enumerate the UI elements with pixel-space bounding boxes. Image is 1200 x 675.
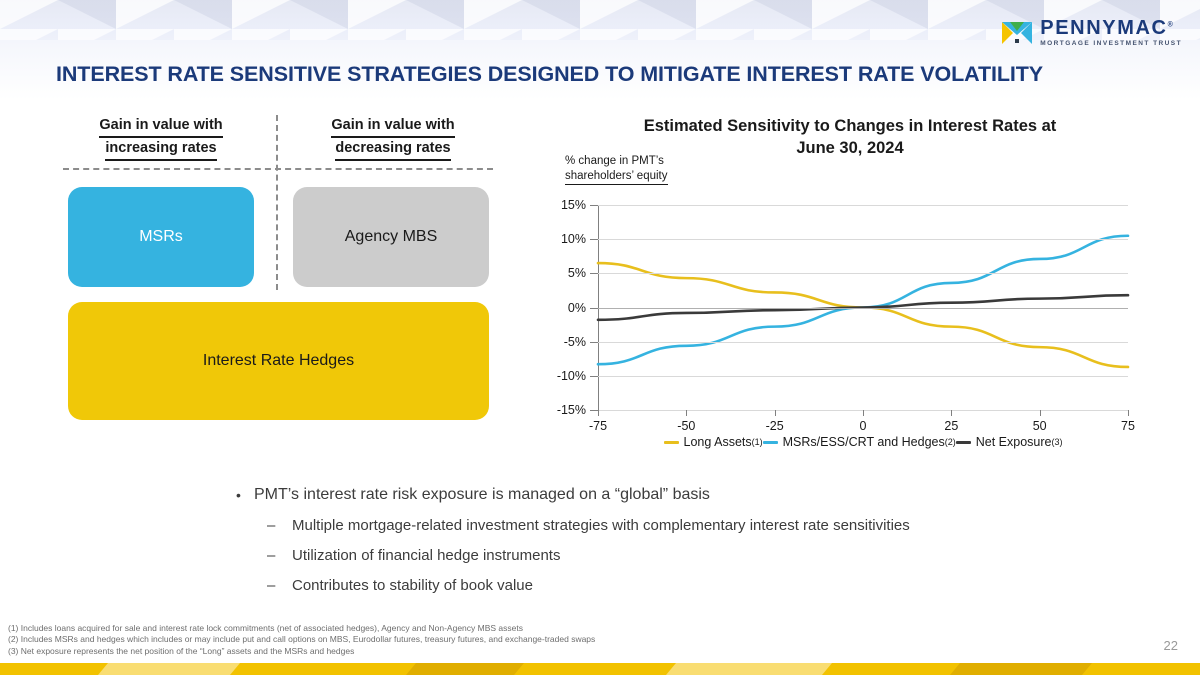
matrix-heading-increasing: Gain in value with increasing rates [63, 115, 259, 161]
pattern-triangle [522, 0, 580, 29]
footnote-2: (2) Includes MSRs and hedges which inclu… [8, 634, 868, 646]
chart-x-tick-label: 50 [1033, 419, 1047, 433]
chart-x-tick-label: 25 [944, 419, 958, 433]
bullet-primary-text: PMT’s interest rate risk exposure is man… [254, 484, 710, 506]
pattern-triangle [290, 0, 348, 29]
bullet-sub-text: Contributes to stability of book value [292, 575, 533, 597]
pattern-triangle [638, 0, 696, 29]
bullet-sub-text: Utilization of financial hedge instrumen… [292, 545, 560, 567]
legend-swatch [763, 441, 778, 444]
legend-swatch [664, 441, 679, 444]
pattern-triangle [58, 0, 116, 29]
chart-gridline [598, 273, 1128, 274]
bullet-sub: – Contributes to stability of book value [267, 575, 1136, 597]
bullet-marker: • [236, 484, 254, 506]
chart-y-tick [590, 376, 598, 377]
legend-label: MSRs/ESS/CRT and Hedges [783, 435, 945, 449]
accent-strip-segment [0, 663, 98, 675]
pattern-triangle [928, 0, 986, 29]
matrix-heading-increasing-line1: Gain in value with [99, 115, 222, 138]
pattern-triangle [232, 0, 290, 29]
chart-x-tick-label: -75 [589, 419, 607, 433]
pattern-triangle [464, 0, 522, 29]
legend-label: Long Assets [684, 435, 752, 449]
accent-strip-segment [406, 663, 524, 675]
bullet-sub: – Utilization of financial hedge instrum… [267, 545, 1136, 567]
chart-gridline [598, 308, 1128, 309]
chart-y-tick-label: -10% [557, 369, 586, 383]
box-interest-rate-hedges: Interest Rate Hedges [68, 302, 489, 420]
legend-item: Long Assets(1) [664, 435, 763, 449]
chart-y-tick-label: 0% [568, 301, 586, 315]
legend-item: Net Exposure(3) [956, 435, 1063, 449]
legend-footnote-ref: (3) [1051, 437, 1062, 447]
bullet-dash-marker: – [267, 575, 292, 597]
box-agency-mbs: Agency MBS [293, 187, 489, 287]
pattern-triangle [580, 0, 638, 29]
legend-footnote-ref: (2) [945, 437, 956, 447]
sensitivity-chart: Estimated Sensitivity to Changes in Inte… [520, 110, 1180, 460]
pattern-triangle [348, 0, 406, 29]
chart-x-tick [1128, 410, 1129, 416]
chart-series-line [598, 236, 1128, 364]
chart-series-line [598, 263, 1128, 367]
pattern-triangle [870, 0, 928, 29]
chart-axis-note-line2: shareholders’ equity [565, 169, 668, 185]
chart-y-tick [590, 410, 598, 411]
box-msrs: MSRs [68, 187, 254, 287]
footnotes: (1) Includes loans acquired for sale and… [8, 623, 868, 658]
matrix-heading-increasing-line2: increasing rates [105, 138, 216, 161]
chart-y-tick-label: 5% [568, 266, 586, 280]
registered-mark: ® [1168, 21, 1173, 28]
chart-x-tick-label: -25 [766, 419, 784, 433]
chart-title-line2: June 30, 2024 [796, 139, 903, 157]
chart-y-tick [590, 239, 598, 240]
footnote-3: (3) Net exposure represents the net posi… [8, 646, 868, 658]
strategy-matrix: Gain in value with increasing rates Gain… [63, 115, 493, 415]
chart-x-tick-label: 75 [1121, 419, 1135, 433]
chart-x-tick [775, 410, 776, 416]
slide: PENNYMAC® MORTGAGE INVESTMENT TRUST INTE… [0, 0, 1200, 675]
pennymac-logo-icon [1002, 20, 1032, 46]
chart-title-line1: Estimated Sensitivity to Changes in Inte… [644, 117, 1057, 135]
matrix-divider-horizontal [63, 168, 493, 170]
matrix-heading-decreasing-line1: Gain in value with [331, 115, 454, 138]
legend-item: MSRs/ESS/CRT and Hedges(2) [763, 435, 956, 449]
logo-name: PENNYMAC® [1040, 18, 1172, 38]
accent-strip-segment [524, 663, 666, 675]
pattern-triangle [174, 0, 232, 29]
chart-x-tick [863, 410, 864, 416]
chart-gridline [598, 376, 1128, 377]
pattern-triangle [812, 0, 870, 29]
legend-footnote-ref: (1) [752, 437, 763, 447]
accent-strip-segment [950, 663, 1092, 675]
bullet-primary: • PMT’s interest rate risk exposure is m… [236, 484, 1136, 506]
matrix-heading-decreasing: Gain in value with decreasing rates [295, 115, 491, 161]
bullet-sub-text: Multiple mortgage-related investment str… [292, 515, 910, 537]
chart-title: Estimated Sensitivity to Changes in Inte… [540, 115, 1160, 159]
chart-plot-area: 15%10%5%0%-5%-10%-15%-75-50-250255075 [598, 205, 1128, 410]
chart-gridline [598, 239, 1128, 240]
chart-y-tick [590, 308, 598, 309]
logo-subtitle: MORTGAGE INVESTMENT TRUST [1040, 41, 1182, 48]
chart-x-tick-label: 0 [860, 419, 867, 433]
chart-axis-note: % change in PMT’s shareholders’ equity [565, 154, 668, 185]
pattern-triangle [696, 0, 754, 29]
chart-y-tick-label: -15% [557, 403, 586, 417]
pattern-triangle [406, 0, 464, 29]
accent-strip-segment [98, 663, 240, 675]
chart-y-tick [590, 205, 598, 206]
chart-y-tick [590, 273, 598, 274]
bottom-accent-strip [0, 663, 1200, 675]
accent-strip-segment [240, 663, 406, 675]
matrix-heading-decreasing-line2: decreasing rates [335, 138, 450, 161]
legend-label: Net Exposure [976, 435, 1052, 449]
legend-swatch [956, 441, 971, 444]
pattern-triangle [754, 0, 812, 29]
bullet-list: • PMT’s interest rate risk exposure is m… [236, 484, 1136, 605]
chart-legend: Long Assets(1)MSRs/ESS/CRT and Hedges(2)… [598, 435, 1128, 449]
bullet-dash-marker: – [267, 545, 292, 567]
accent-strip-segment [1092, 663, 1200, 675]
chart-x-tick [1040, 410, 1041, 416]
matrix-divider-vertical [276, 115, 278, 290]
pattern-triangle [0, 0, 58, 29]
page-title: INTEREST RATE SENSITIVE STRATEGIES DESIG… [56, 62, 1166, 87]
chart-x-tick-label: -50 [677, 419, 695, 433]
accent-strip-segment [666, 663, 832, 675]
chart-axis-note-line1: % change in PMT’s [565, 155, 664, 167]
chart-x-tick [686, 410, 687, 416]
bullet-sub: – Multiple mortgage-related investment s… [267, 515, 1136, 537]
chart-y-tick [590, 342, 598, 343]
chart-gridline [598, 342, 1128, 343]
pattern-triangle [116, 0, 174, 29]
chart-y-tick-label: 15% [561, 198, 586, 212]
chart-y-tick-label: 10% [561, 232, 586, 246]
accent-strip-segment [832, 663, 950, 675]
page-number: 22 [1164, 638, 1178, 653]
footnote-1: (1) Includes loans acquired for sale and… [8, 623, 868, 635]
chart-gridline [598, 205, 1128, 206]
bullet-dash-marker: – [267, 515, 292, 537]
pennymac-logo: PENNYMAC® MORTGAGE INVESTMENT TRUST [1002, 18, 1182, 48]
pennymac-wordmark: PENNYMAC® MORTGAGE INVESTMENT TRUST [1040, 18, 1182, 48]
chart-x-tick [951, 410, 952, 416]
chart-y-tick-label: -5% [564, 335, 586, 349]
chart-x-tick [598, 410, 599, 416]
